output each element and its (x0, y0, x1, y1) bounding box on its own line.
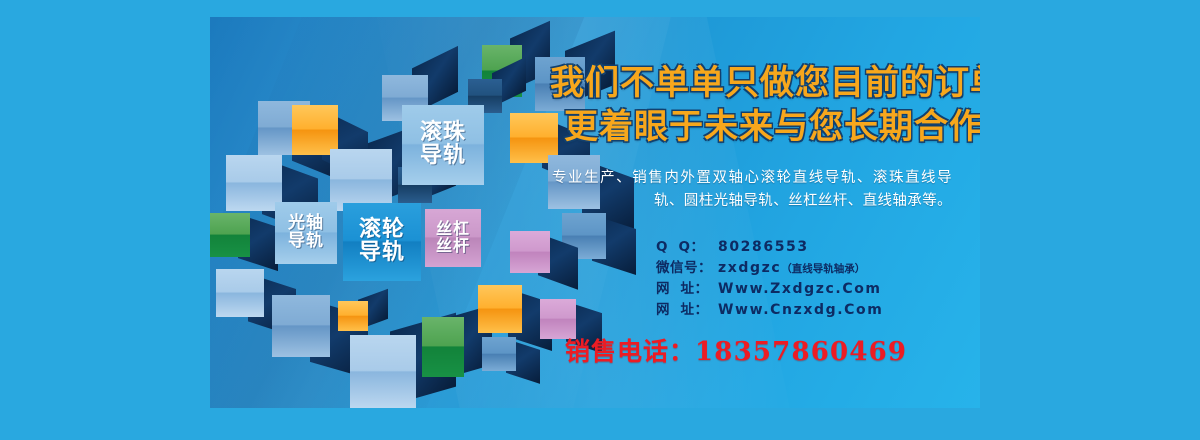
headline-line-2: 更着眼于未来与您长期合作 (564, 107, 980, 148)
decorative-cube (422, 317, 464, 377)
decorative-cube (272, 295, 330, 357)
contact-separator: ： (695, 302, 709, 318)
contact-label-web-b: 址 (681, 302, 695, 318)
product-tile-line1: 滚珠 (420, 122, 466, 145)
sales-phone[interactable]: 销售电话：18357860469 (565, 332, 907, 368)
promo-banner: 滚珠 导轨 光轴 导轨 滚轮 导轨 丝杠 丝杆 我们不单单只做您目前的订单 更着… (210, 17, 980, 408)
contact-label: 微信号： (656, 256, 718, 276)
contact-label-web-a: 网 (656, 281, 681, 297)
contact-separator: ： (690, 239, 704, 255)
sales-phone-number: 18357860469 (695, 337, 907, 367)
contact-note-wechat: （直线导轨轴承） (781, 261, 865, 276)
product-tile-sigang-sigan[interactable]: 丝杠 丝杆 (425, 209, 481, 267)
decorative-cube (330, 149, 392, 211)
decorative-cube (292, 105, 338, 155)
decorative-cube (350, 335, 416, 408)
product-tile-line2: 导轨 (359, 242, 405, 265)
product-tile-line2: 丝杆 (436, 238, 470, 255)
contact-label-wechat: 微信号 (656, 260, 698, 276)
headline-line-1: 我们不单单只做您目前的订单 (550, 63, 980, 104)
decorative-cube (226, 155, 282, 211)
decorative-cube (338, 301, 368, 331)
contact-label-qq-b: Q (678, 239, 690, 255)
decorative-cube (210, 213, 250, 257)
decorative-cube (510, 231, 550, 273)
contact-label-web-b: 址 (681, 281, 695, 297)
banner-copy: 我们不单单只做您目前的订单 更着眼于未来与您长期合作 专业生产、销售内外置双轴心… (550, 37, 980, 397)
product-tile-line2: 导轨 (288, 233, 324, 251)
contact-value-qq[interactable]: 80286553 (718, 239, 809, 255)
contact-label: 网址： (656, 277, 718, 297)
product-tile-line1: 滚轮 (359, 219, 405, 242)
product-tile-gunzhu-daogui[interactable]: 滚珠 导轨 (402, 105, 484, 185)
product-tile-gunlun-daogui[interactable]: 滚轮 导轨 (343, 203, 421, 281)
contact-label-web-a: 网 (656, 302, 681, 318)
contact-row-qq: QQ： 80286553 (656, 235, 883, 256)
sales-phone-label: 销售电话： (565, 337, 695, 366)
decorative-cube (216, 269, 264, 317)
product-tile-guangzhou-daogui[interactable]: 光轴 导轨 (275, 202, 337, 264)
contact-label: 网址： (656, 298, 718, 318)
contact-row-website-1: 网址： Www.Zxdgzc.Com (656, 277, 883, 298)
contact-label-qq-a: Q (656, 239, 678, 255)
product-tile-line2: 导轨 (420, 145, 466, 168)
contact-value-website-1[interactable]: Www.Zxdgzc.Com (718, 281, 882, 297)
contact-separator: ： (695, 281, 709, 297)
decorative-cube (478, 285, 522, 333)
company-description: 专业生产、销售内外置双轴心滚轮直线导轨、滚珠直线导轨、圆柱光轴导轨、丝杠丝杆、直… (552, 167, 952, 213)
contact-row-wechat: 微信号： zxdgzc （直线导轨轴承） (656, 256, 883, 277)
contact-label: QQ： (656, 235, 718, 255)
contact-separator: ： (698, 260, 712, 276)
contact-row-website-2: 网址： Www.Cnzxdg.Com (656, 298, 883, 319)
contact-info-list: QQ： 80286553 微信号： zxdgzc （直线导轨轴承） 网址： Ww… (656, 235, 883, 319)
page-root: 滚珠 导轨 光轴 导轨 滚轮 导轨 丝杠 丝杆 我们不单单只做您目前的订单 更着… (0, 0, 1200, 440)
decorative-cube (482, 337, 516, 371)
contact-value-website-2[interactable]: Www.Cnzxdg.Com (718, 302, 883, 318)
contact-value-wechat[interactable]: zxdgzc (718, 260, 781, 276)
